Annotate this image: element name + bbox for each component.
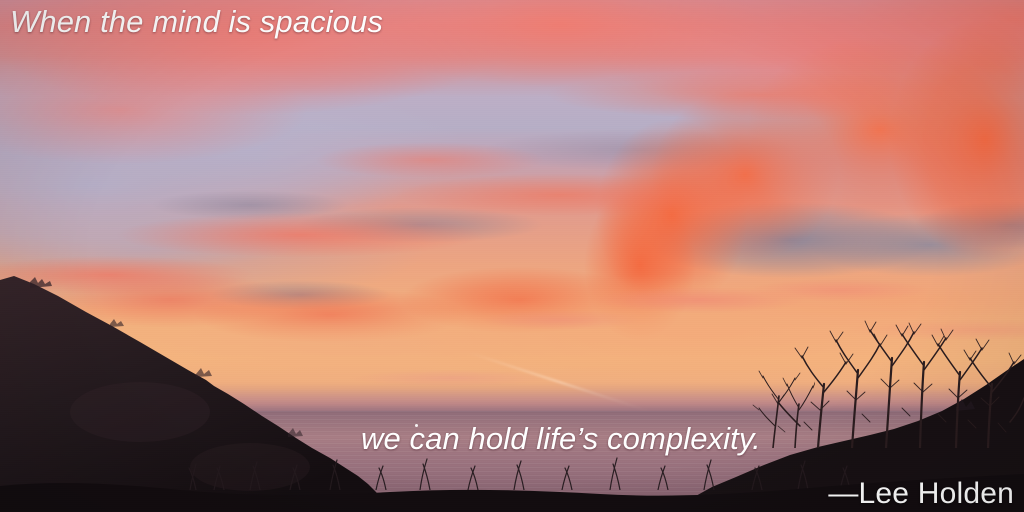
speck-artifact bbox=[415, 424, 418, 427]
quote-attribution: —Lee Holden bbox=[828, 477, 1014, 511]
quote-line-2: we can hold life’s complexity. bbox=[361, 421, 761, 457]
quote-line-1: When the mind is spacious bbox=[10, 4, 383, 40]
quote-image: When the mind is spacious we can hold li… bbox=[0, 0, 1024, 512]
